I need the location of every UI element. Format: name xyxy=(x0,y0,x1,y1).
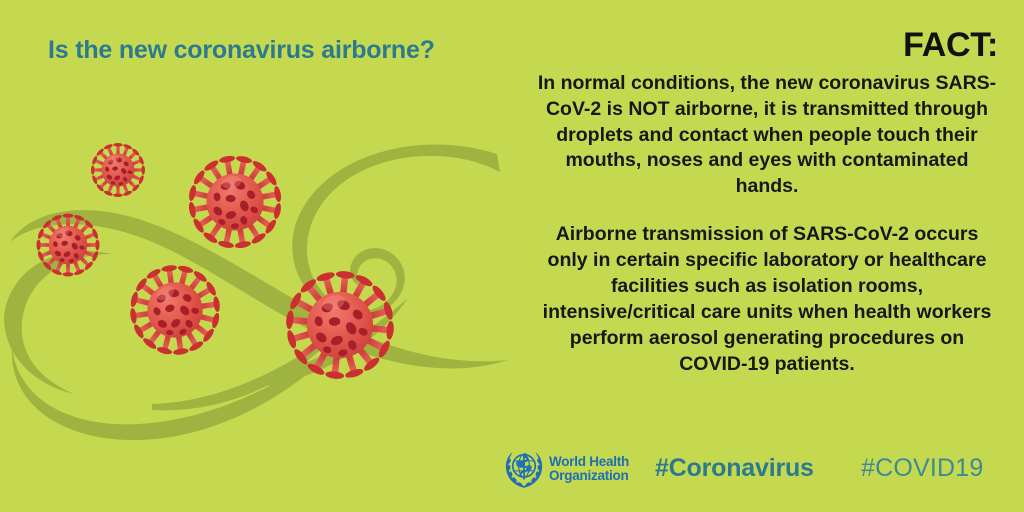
virus-particle-small-upper xyxy=(91,143,145,197)
who-covid19-fact-poster: Is the new coronavirus airborne? FACT: I… xyxy=(0,0,1024,512)
fact-paragraph-airborne-exception: Airborne transmission of SARS-CoV-2 occu… xyxy=(536,222,998,378)
page-title: Is the new coronavirus airborne? xyxy=(48,36,435,65)
who-wordmark: World Health Organization xyxy=(549,455,629,483)
who-wordmark-line1: World Health xyxy=(549,455,629,469)
coronavirus-illustration xyxy=(0,110,520,440)
virus-particle-small-left xyxy=(37,214,100,277)
fact-panel: FACT: In normal conditions, the new coro… xyxy=(536,28,998,378)
who-emblem-icon xyxy=(504,449,544,489)
fact-label: FACT: xyxy=(536,28,998,64)
virus-particle-large-mid xyxy=(124,259,226,361)
who-wordmark-line2: Organization xyxy=(549,469,629,483)
hashtag-coronavirus[interactable]: #Coronavirus xyxy=(655,454,814,483)
hashtag-covid19[interactable]: #COVID19 xyxy=(861,454,984,483)
fact-paragraph-transmission: In normal conditions, the new coronaviru… xyxy=(536,71,998,201)
virus-particle-large-top xyxy=(180,147,290,257)
footer: World Health Organization #Coronavirus #… xyxy=(0,448,1024,490)
who-logo: World Health Organization xyxy=(504,448,629,490)
